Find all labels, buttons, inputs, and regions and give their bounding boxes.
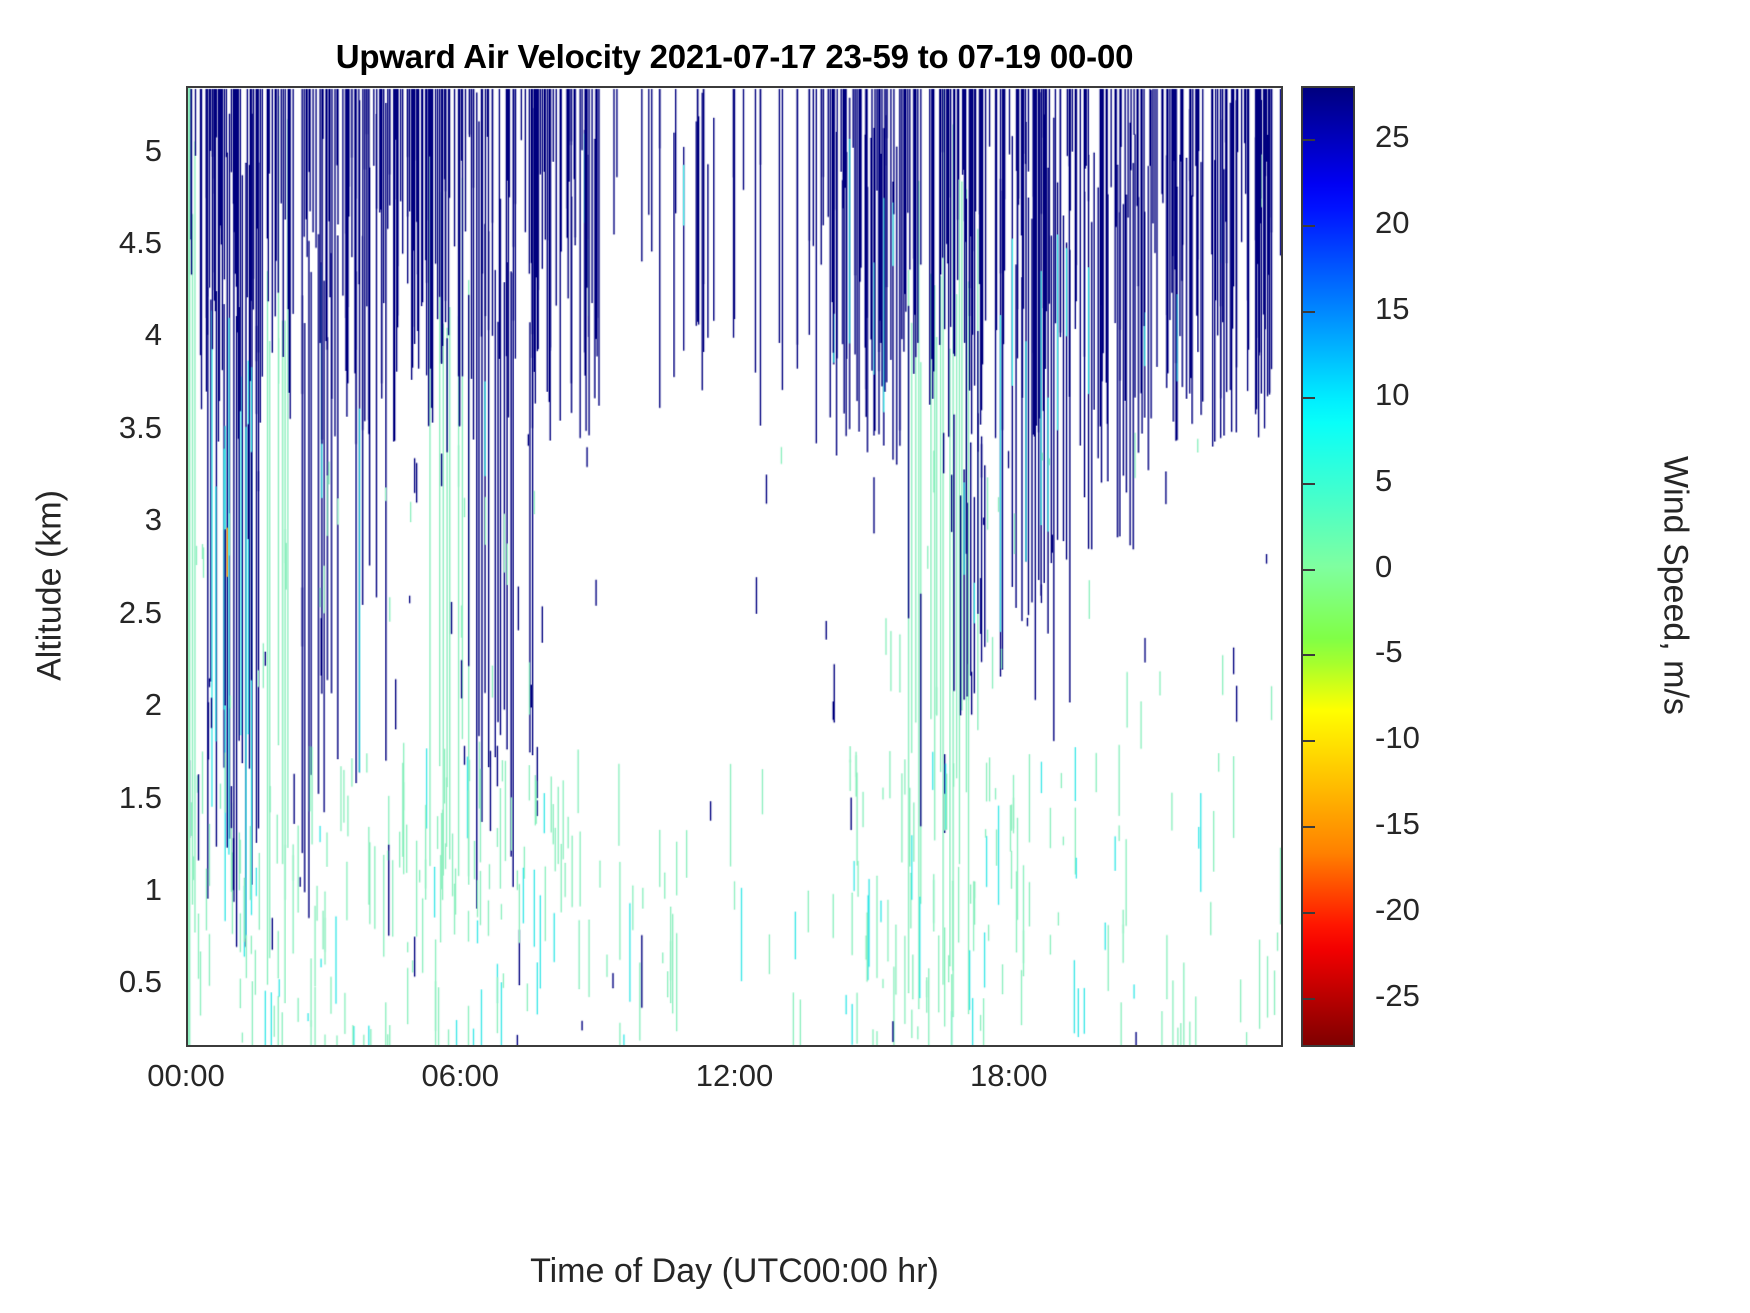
y-tick-mark	[186, 984, 188, 986]
y-tick-mark	[1281, 615, 1283, 617]
x-axis-label: Time of Day (UTC00:00 hr)	[186, 1252, 1283, 1291]
x-tick-mark	[462, 1045, 464, 1047]
x-tick-mark	[462, 86, 464, 88]
y-tick-mark	[186, 892, 188, 894]
colorbar-tick-label: 0	[1375, 549, 1392, 585]
colorbar	[1301, 86, 1355, 1047]
colorbar-tick-mark	[1302, 654, 1315, 656]
y-tick-mark	[186, 707, 188, 709]
x-tick-mark	[737, 86, 739, 88]
y-tick-mark	[1281, 892, 1283, 894]
colorbar-tick-mark	[1302, 139, 1315, 141]
colorbar-tick-mark	[1302, 912, 1315, 914]
y-tick-mark	[1281, 153, 1283, 155]
colorbar-label: Wind Speed, m/s	[1656, 376, 1695, 796]
y-tick-label: 5	[42, 133, 162, 169]
figure-canvas: Upward Air Velocity 2021-07-17 23-59 to …	[0, 0, 1750, 1313]
colorbar-tick-label: -15	[1375, 806, 1420, 842]
y-tick-mark	[186, 245, 188, 247]
y-tick-label: 4.5	[42, 225, 162, 261]
y-tick-mark	[1281, 800, 1283, 802]
colorbar-tick-label: -10	[1375, 720, 1420, 756]
colorbar-tick-label: -5	[1375, 634, 1403, 670]
colorbar-tick-label: -25	[1375, 978, 1420, 1014]
x-tick-label: 00:00	[147, 1058, 225, 1094]
colorbar-tick-label: 10	[1375, 377, 1409, 413]
y-tick-mark	[186, 522, 188, 524]
colorbar-tick-label: 15	[1375, 291, 1409, 327]
plot-axes	[186, 86, 1283, 1047]
colorbar-tick-mark	[1302, 998, 1315, 1000]
x-tick-label: 06:00	[421, 1058, 499, 1094]
x-tick-mark	[188, 86, 190, 88]
x-tick-mark	[188, 1045, 190, 1047]
colorbar-tick-mark	[1302, 397, 1315, 399]
y-tick-mark	[186, 337, 188, 339]
y-axis-label: Altitude (km)	[31, 386, 70, 786]
x-tick-label: 12:00	[696, 1058, 774, 1094]
heatmap-data-area	[188, 88, 1281, 1045]
y-tick-mark	[186, 430, 188, 432]
y-tick-mark	[1281, 430, 1283, 432]
colorbar-tick-mark	[1302, 483, 1315, 485]
chart-title: Upward Air Velocity 2021-07-17 23-59 to …	[186, 38, 1283, 76]
x-tick-mark	[737, 1045, 739, 1047]
y-tick-mark	[1281, 522, 1283, 524]
colorbar-tick-mark	[1302, 740, 1315, 742]
y-tick-mark	[1281, 337, 1283, 339]
y-tick-label: 1	[42, 872, 162, 908]
colorbar-tick-mark	[1302, 225, 1315, 227]
y-tick-label: 4	[42, 317, 162, 353]
x-tick-mark	[1011, 1045, 1013, 1047]
colorbar-tick-mark	[1302, 311, 1315, 313]
colorbar-gradient	[1303, 88, 1353, 1045]
y-tick-label: 0.5	[42, 964, 162, 1000]
y-tick-mark	[1281, 245, 1283, 247]
colorbar-tick-label: 20	[1375, 205, 1409, 241]
y-tick-mark	[186, 153, 188, 155]
x-tick-label: 18:00	[970, 1058, 1048, 1094]
y-tick-mark	[1281, 707, 1283, 709]
colorbar-tick-mark	[1302, 569, 1315, 571]
colorbar-tick-label: -20	[1375, 892, 1420, 928]
y-tick-mark	[186, 615, 188, 617]
colorbar-tick-label: 5	[1375, 463, 1392, 499]
x-tick-mark	[1011, 86, 1013, 88]
y-tick-mark	[1281, 984, 1283, 986]
colorbar-tick-mark	[1302, 826, 1315, 828]
y-tick-mark	[186, 800, 188, 802]
colorbar-tick-label: 25	[1375, 119, 1409, 155]
